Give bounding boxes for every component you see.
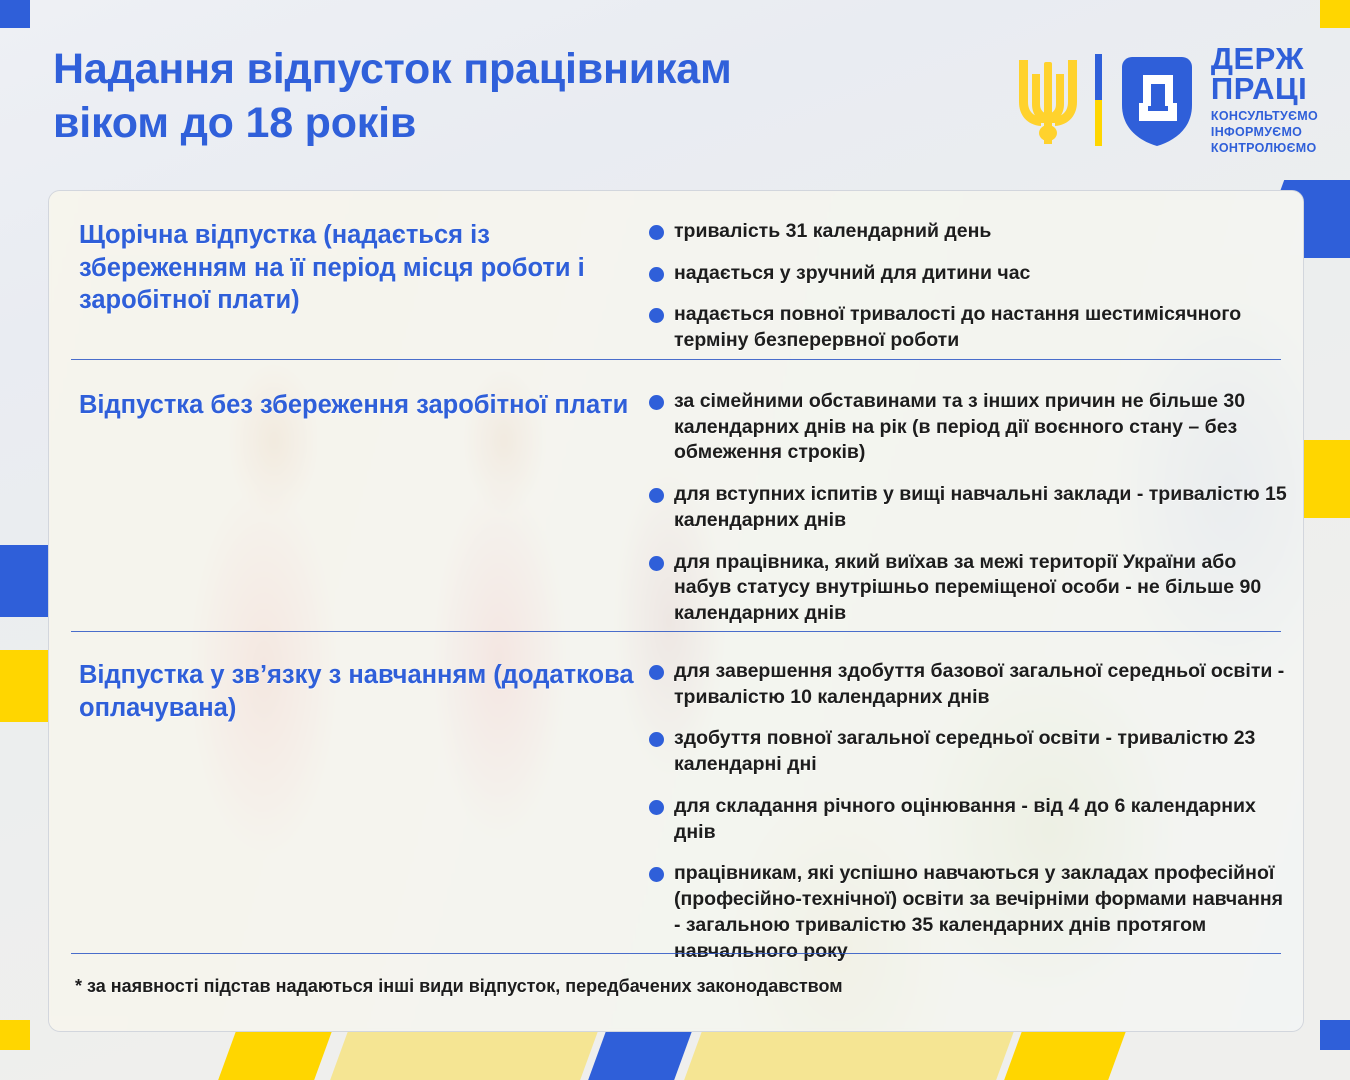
section-heading: Відпустка без збереження заробітної плат… [49,389,649,627]
list-item: для завершення здобуття базової загально… [649,659,1289,710]
bullet-dot-icon [649,732,664,747]
section-heading: Щорічна відпустка (надається із збережен… [49,219,649,354]
logo-tagline: КОНСУЛЬТУЄМО ІНФОРМУЄМО КОНТРОЛЮЄМО [1211,108,1318,156]
bullet-dot-icon [649,867,664,882]
logo-wordmark: ДЕРЖ ПРАЦІ КОНСУЛЬТУЄМО ІНФОРМУЄМО КОНТР… [1211,53,1318,148]
ukraine-trident-icon [1015,54,1081,146]
list-item: для працівника, який виїхав за межі тери… [649,550,1289,627]
list-item-text: надається у зручний для дитини час [674,261,1289,287]
page-title-line-1: Надання відпусток працівникам [53,42,933,96]
list-item: тривалість 31 календарний день [649,219,1289,245]
section-divider [71,953,1281,954]
list-item-text: працівникам, які успішно навчаються у за… [674,861,1289,964]
list-item: здобуття повної загальної середньої осві… [649,726,1289,777]
bullet-dot-icon [649,395,664,410]
logo-divider [1095,54,1102,146]
list-item-text: тривалість 31 календарний день [674,219,1289,245]
list-item-text: для складання річного оцінювання - від 4… [674,794,1289,845]
list-item-text: для завершення здобуття базової загально… [674,659,1289,710]
derzhpratsi-shield-icon [1118,53,1196,148]
list-item: працівникам, які успішно навчаються у за… [649,861,1289,964]
leave-section-study: Відпустка у зв’язку з навчанням (додатко… [49,659,1303,964]
page-background: Надання відпусток працівникам віком до 1… [0,0,1350,1080]
leave-section-annual: Щорічна відпустка (надається із збережен… [49,219,1303,354]
section-bullet-list: тривалість 31 календарний день надається… [649,219,1303,354]
page-title-line-2: віком до 18 років [53,96,933,150]
logo-tagline-line-2: ІНФОРМУЄМО [1211,124,1318,140]
list-item-text: для працівника, який виїхав за межі тери… [674,550,1289,627]
footnote: * за наявності підстав надаються інші ви… [75,976,843,997]
bullet-dot-icon [649,800,664,815]
bullet-dot-icon [649,488,664,503]
list-item: надається у зручний для дитини час [649,261,1289,287]
bullet-dot-icon [649,225,664,240]
section-divider [71,631,1281,632]
bullet-dot-icon [649,308,664,323]
list-item: надається повної тривалості до настання … [649,302,1289,353]
list-item-text: надається повної тривалості до настання … [674,302,1289,353]
logo-name-line-1: ДЕРЖ [1211,44,1318,73]
bullet-dot-icon [649,665,664,680]
list-item: для вступних іспитів у вищі навчальні за… [649,482,1289,533]
section-heading: Відпустка у зв’язку з навчанням (додатко… [49,659,649,964]
header: Надання відпусток працівникам віком до 1… [0,0,1350,190]
card-content: Щорічна відпустка (надається із збережен… [49,191,1303,1031]
section-bullet-list: за сімейними обставинами та з інших прич… [649,389,1303,627]
logo-tagline-line-3: КОНТРОЛЮЄМО [1211,140,1318,156]
list-item-text: здобуття повної загальної середньої осві… [674,726,1289,777]
brand-logo: ДЕРЖ ПРАЦІ КОНСУЛЬТУЄМО ІНФОРМУЄМО КОНТР… [1015,48,1318,152]
list-item-text: для вступних іспитів у вищі навчальні за… [674,482,1289,533]
section-divider [71,359,1281,360]
list-item: для складання річного оцінювання - від 4… [649,794,1289,845]
logo-tagline-line-1: КОНСУЛЬТУЄМО [1211,108,1318,124]
content-card: Щорічна відпустка (надається із збережен… [48,190,1304,1032]
list-item-text: за сімейними обставинами та з інших прич… [674,389,1289,466]
bullet-dot-icon [649,267,664,282]
logo-name-line-2: ПРАЦІ [1211,74,1318,103]
leave-section-unpaid: Відпустка без збереження заробітної плат… [49,389,1303,627]
page-title: Надання відпусток працівникам віком до 1… [53,42,933,150]
bullet-dot-icon [649,556,664,571]
section-bullet-list: для завершення здобуття базової загально… [649,659,1303,964]
list-item: за сімейними обставинами та з інших прич… [649,389,1289,466]
